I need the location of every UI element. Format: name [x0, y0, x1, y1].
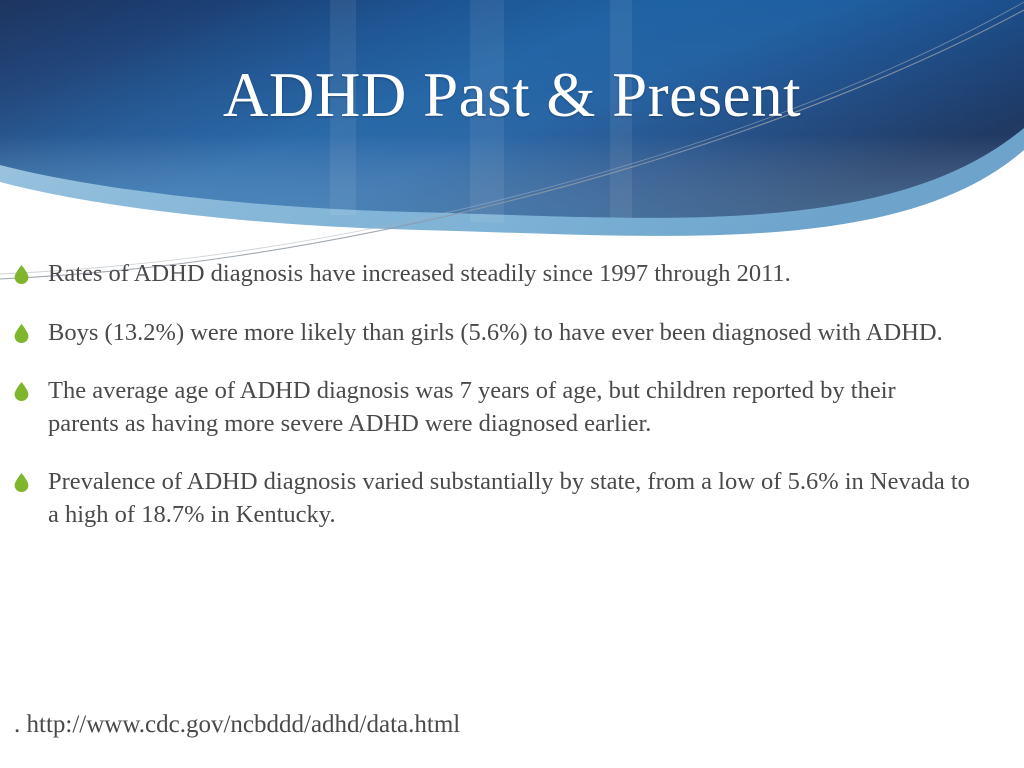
source-footer: . http://www.cdc.gov/ncbddd/adhd/data.ht…	[14, 710, 994, 740]
banner-hairline-arc-secondary	[0, 2, 1024, 274]
list-item-text: The average age of ADHD diagnosis was 7 …	[48, 377, 896, 437]
droplet-bullet-icon	[14, 324, 29, 343]
list-item: Rates of ADHD diagnosis have increased s…	[0, 258, 1024, 291]
list-item-text: Rates of ADHD diagnosis have increased s…	[48, 260, 791, 287]
list-item: Prevalence of ADHD diagnosis varied subs…	[0, 466, 1024, 531]
droplet-bullet-icon	[14, 382, 29, 401]
list-item: The average age of ADHD diagnosis was 7 …	[0, 375, 1024, 440]
droplet-bullet-icon	[14, 473, 29, 492]
banner-hairline-arc	[0, 10, 1024, 279]
list-item: Boys (13.2%) were more likely than girls…	[0, 317, 1024, 350]
list-item-text: Prevalence of ADHD diagnosis varied subs…	[48, 468, 970, 528]
slide-title: ADHD Past & Present	[0, 62, 1024, 128]
title-banner-decoration	[0, 0, 1024, 300]
droplet-bullet-icon	[14, 265, 29, 284]
list-item-text: Boys (13.2%) were more likely than girls…	[48, 319, 943, 346]
slide: ADHD Past & Present Rates of ADHD diagno…	[0, 0, 1024, 768]
bullet-list: Rates of ADHD diagnosis have increased s…	[0, 258, 1024, 531]
